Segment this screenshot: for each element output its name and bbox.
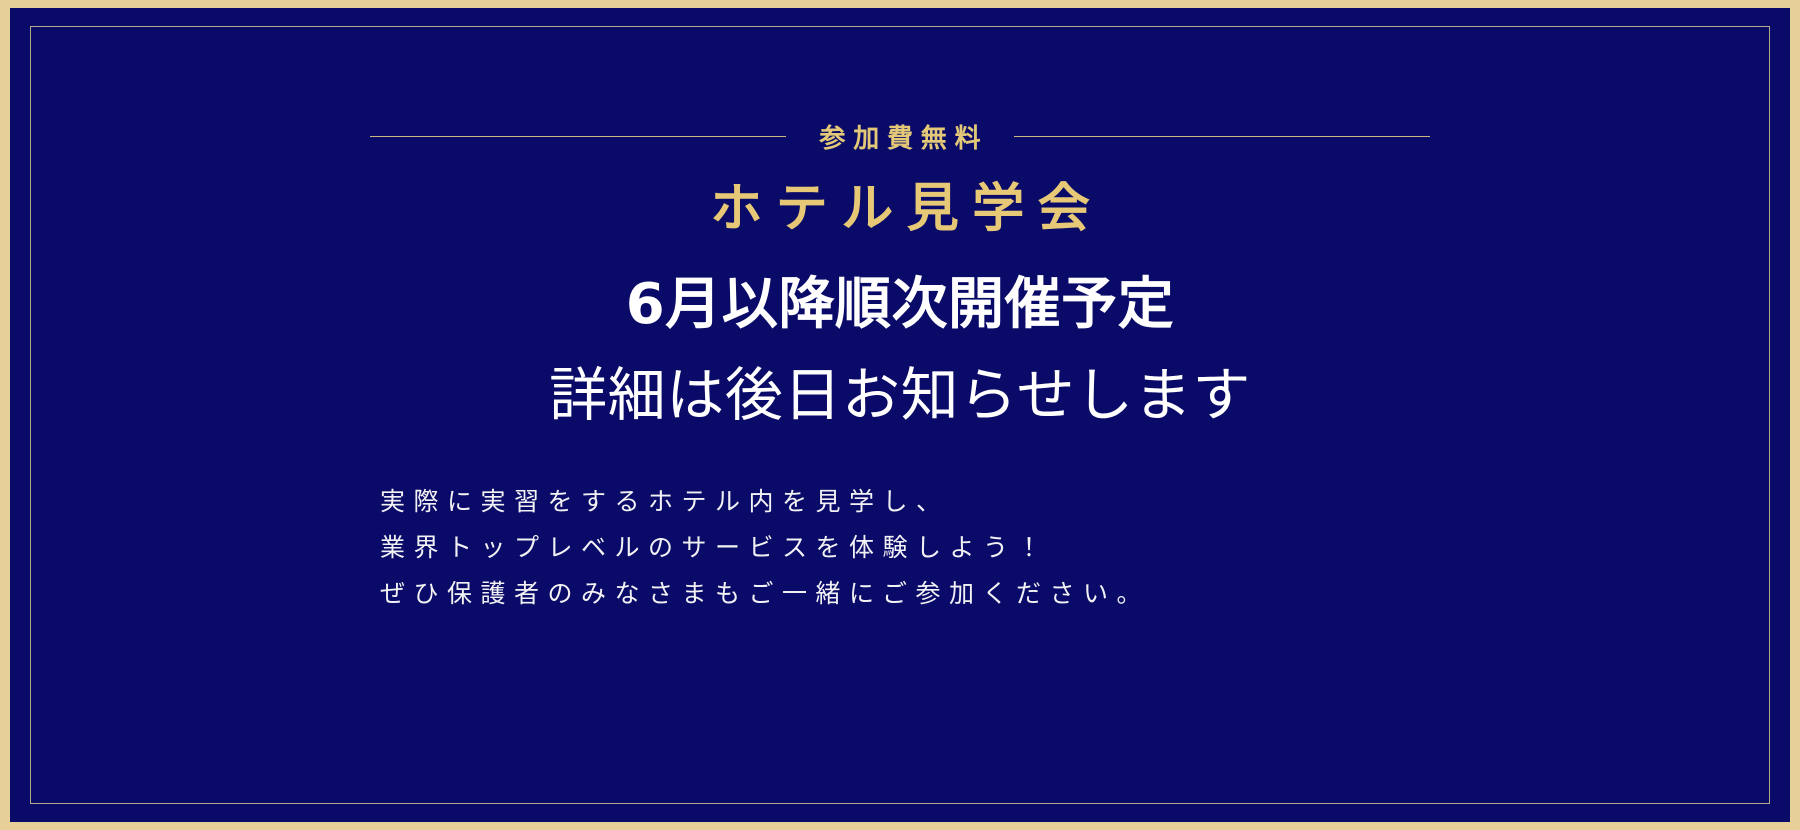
eyebrow-row: 参加費無料 [370,118,1430,155]
body-copy-block: 実際に実習をするホテル内を見学し、 業界トップレベルのサービスを体験しよう！ ぜ… [370,480,1430,619]
event-subheadline: 詳細は後日お知らせします [549,364,1251,428]
event-title: ホテル見学会 [697,181,1104,238]
body-copy-line: 業界トップレベルのサービスを体験しよう！ [380,526,1430,572]
banner-content: 参加費無料 ホテル見学会 6月以降順次開催予定 詳細は後日お知らせします 実際に… [30,26,1770,804]
eyebrow-rule-right [1014,136,1430,137]
banner-inner-panel: 参加費無料 ホテル見学会 6月以降順次開催予定 詳細は後日お知らせします 実際に… [10,8,1790,822]
body-copy-line: ぜひ保護者のみなさまもご一緒にご参加ください。 [380,572,1430,618]
eyebrow-rule-left [370,136,786,137]
body-copy-line: 実際に実習をするホテル内を見学し、 [380,480,1430,526]
eyebrow-label: 参加費無料 [812,118,989,155]
promo-banner: 参加費無料 ホテル見学会 6月以降順次開催予定 詳細は後日お知らせします 実際に… [0,0,1800,830]
event-headline: 6月以降順次開催予定 [626,274,1175,336]
